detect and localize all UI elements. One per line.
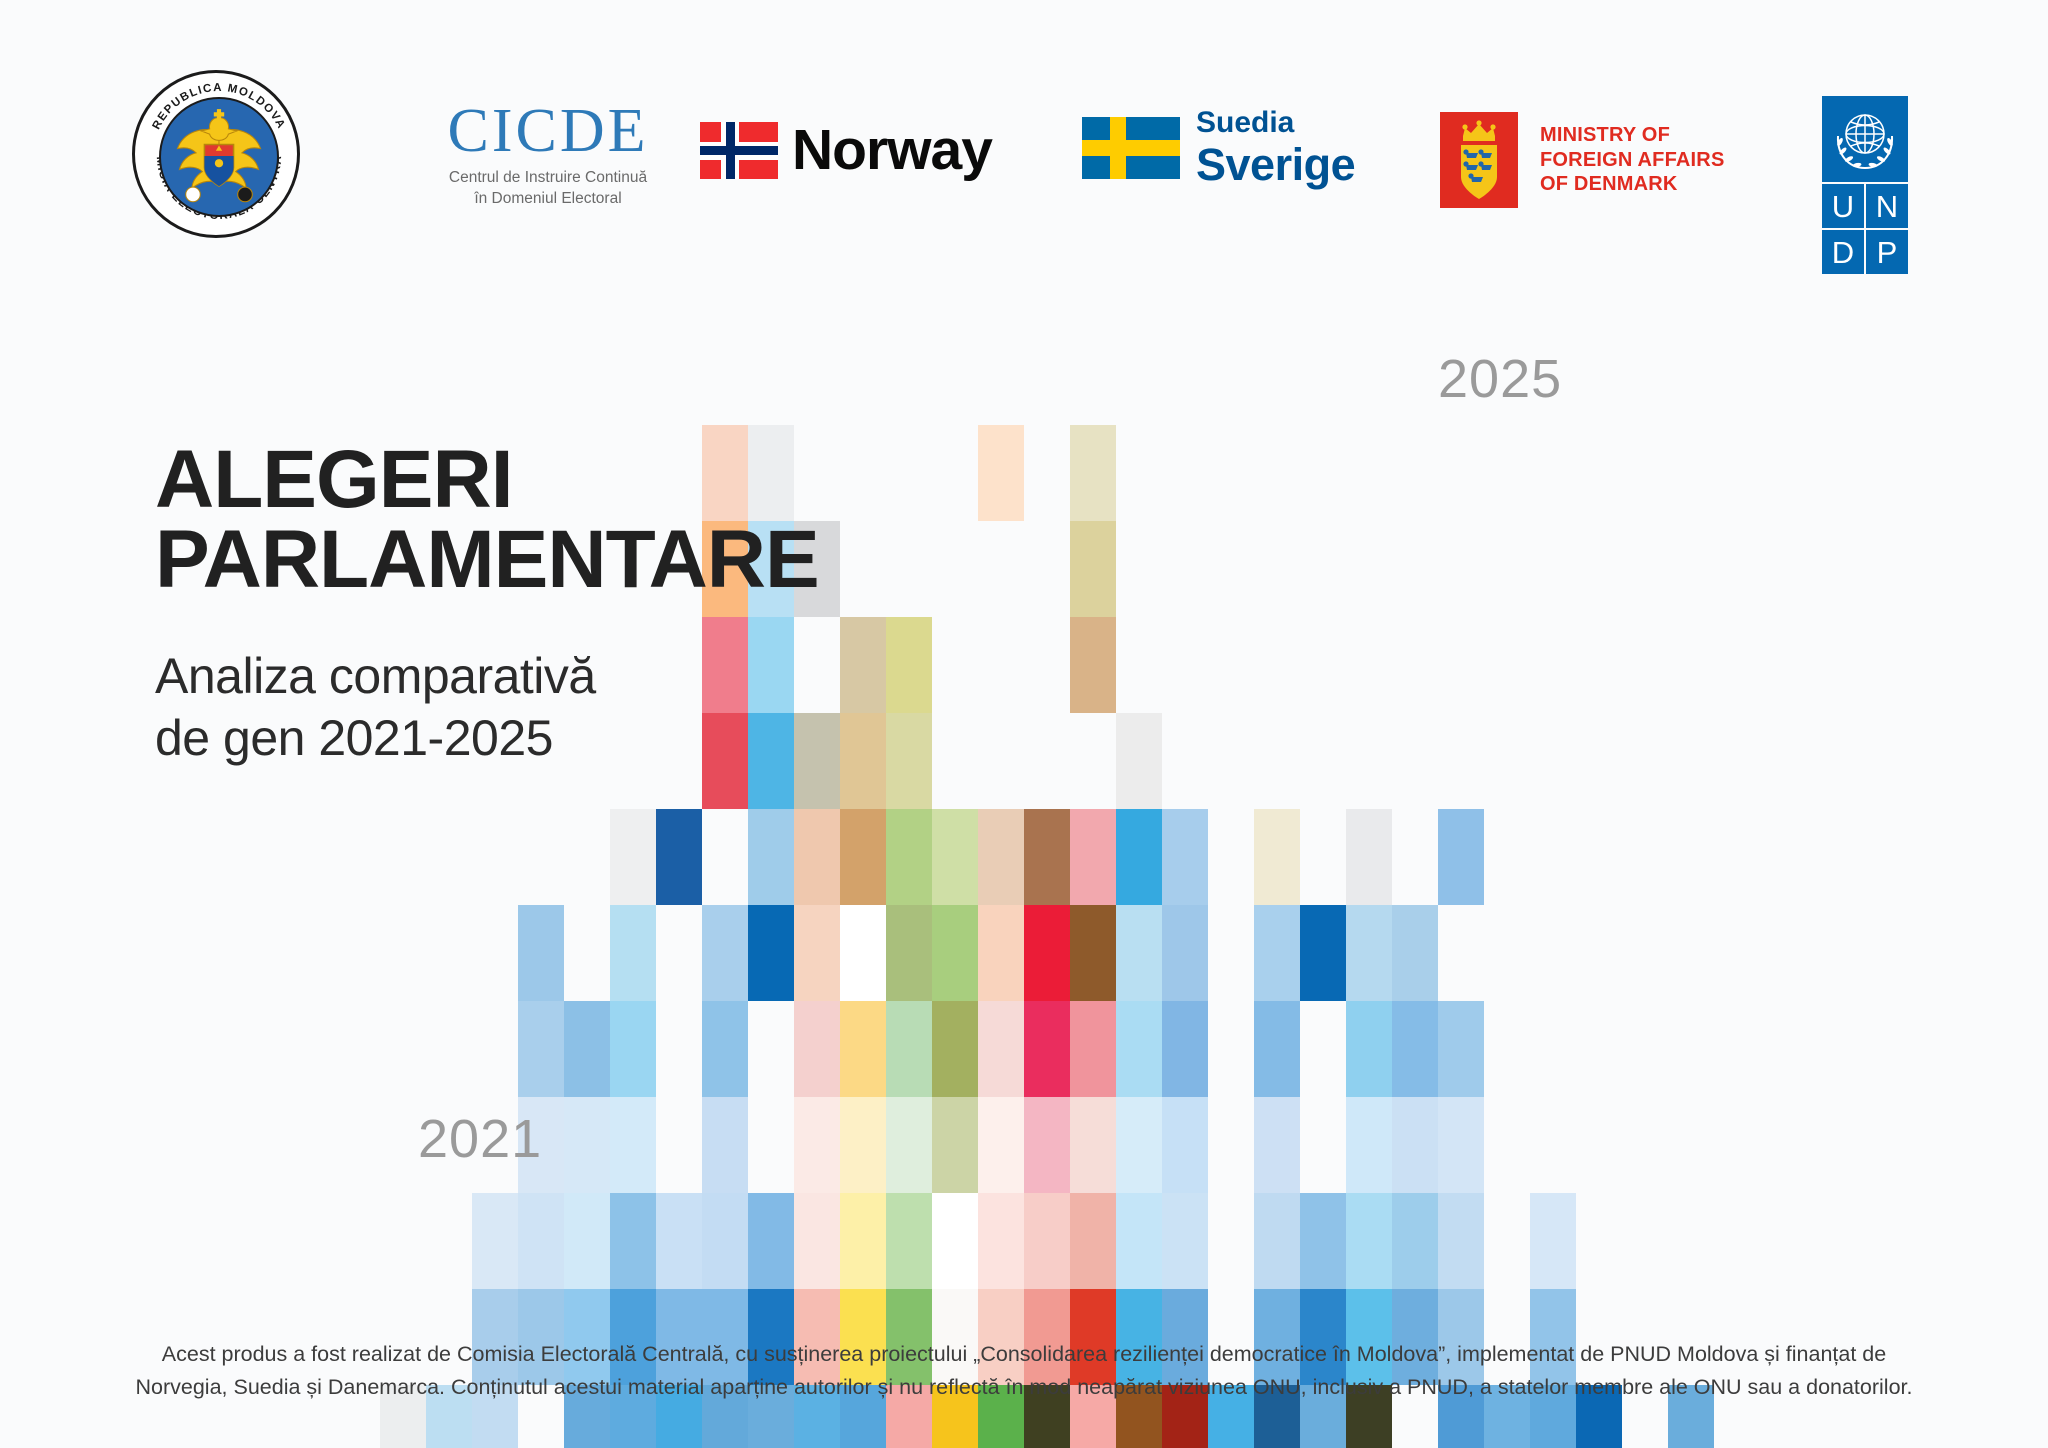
mosaic-cell: [1162, 1097, 1208, 1193]
mosaic-cell: [978, 425, 1024, 521]
mosaic-cell: [1254, 809, 1300, 905]
cicde-wordmark: CICDE: [448, 100, 649, 162]
mosaic-cell: [1346, 1193, 1392, 1289]
mosaic-cell: [1392, 1097, 1438, 1193]
mosaic-cell: [1438, 1001, 1484, 1097]
mosaic-cell: [1300, 1193, 1346, 1289]
denmark-label-line2: FOREIGN AFFAIRS: [1540, 148, 1724, 172]
mosaic-cell: [1070, 1097, 1116, 1193]
undp-logo: U N D P: [1822, 96, 1908, 274]
mosaic-cell: [794, 1193, 840, 1289]
mosaic-cell: [932, 1001, 978, 1097]
sweden-label-ro: Suedia: [1196, 108, 1355, 138]
mosaic-cell: [1162, 809, 1208, 905]
cicde-subtitle: Centrul de Instruire Continuă în Domeniu…: [449, 168, 647, 210]
page-title-line2: PARLAMENTARE: [155, 520, 915, 600]
mosaic-cell: [472, 1193, 518, 1289]
mosaic-cell: [518, 1193, 564, 1289]
mosaic-cell: [1530, 1193, 1576, 1289]
mosaic-cell: [886, 1193, 932, 1289]
mosaic-cell: [1346, 809, 1392, 905]
seal-blue-field: [159, 97, 279, 217]
mosaic-cell: [1070, 1001, 1116, 1097]
mosaic-cell: [1070, 521, 1116, 617]
page-subtitle-line2: de gen 2021-2025: [155, 707, 915, 770]
mosaic-cell: [840, 809, 886, 905]
cec-moldova-seal-logo: REPUBLICA MOLDOVA COMISIA ELECTORALĂ CEN…: [132, 70, 300, 238]
mosaic-cell: [886, 1097, 932, 1193]
denmark-arms-svg: [1451, 120, 1507, 202]
cicde-logo: CICDE Centrul de Instruire Continuă în D…: [398, 100, 698, 210]
mosaic-cell: [886, 809, 932, 905]
mosaic-cell: [1438, 809, 1484, 905]
denmark-label-line3: OF DENMARK: [1540, 172, 1724, 196]
mosaic-cell: [840, 1097, 886, 1193]
mosaic-cell: [1116, 1097, 1162, 1193]
mosaic-cell: [702, 1193, 748, 1289]
moldova-eagle-icon: [167, 105, 271, 209]
mosaic-cell: [794, 1097, 840, 1193]
mosaic-cell: [610, 1193, 656, 1289]
mosaic-cell: [932, 809, 978, 905]
mosaic-cell: [748, 1193, 794, 1289]
mosaic-cell: [978, 1193, 1024, 1289]
mosaic-cell: [1300, 905, 1346, 1001]
mosaic-cell: [1162, 905, 1208, 1001]
mosaic-cell: [656, 1193, 702, 1289]
undp-letter-n: N: [1866, 184, 1908, 228]
norway-flag-icon: [700, 122, 778, 179]
cicde-subtitle-line2: în Domeniul Electoral: [449, 189, 647, 210]
sweden-logo: Suedia Sverige: [1082, 108, 1355, 187]
mosaic-cell: [1438, 1193, 1484, 1289]
undp-letter-u: U: [1822, 184, 1864, 228]
mosaic-cell: [1346, 905, 1392, 1001]
cover-title-block: ALEGERI PARLAMENTARE Analiza comparativă…: [155, 440, 915, 770]
page-subtitle: Analiza comparativă de gen 2021-2025: [155, 645, 915, 770]
mosaic-cell: [1070, 809, 1116, 905]
mosaic-cell: [748, 905, 794, 1001]
mosaic-cell: [840, 1001, 886, 1097]
mosaic-cell: [1116, 1001, 1162, 1097]
mosaic-cell: [1070, 905, 1116, 1001]
mosaic-cell: [1024, 1097, 1070, 1193]
mosaic-cell: [840, 1193, 886, 1289]
mosaic-cell: [932, 1097, 978, 1193]
mosaic-cell: [1070, 617, 1116, 713]
mosaic-cell: [1392, 1001, 1438, 1097]
mosaic-cell: [1346, 1097, 1392, 1193]
mosaic-cell: [1392, 905, 1438, 1001]
mosaic-year-end-label: 2025: [1438, 348, 1562, 410]
un-globe-laurel-icon: [1822, 96, 1908, 182]
mosaic-cell: [610, 1097, 656, 1193]
norway-logo: Norway: [700, 122, 992, 179]
mosaic-cell: [1070, 1193, 1116, 1289]
undp-letter-grid: U N D P: [1822, 184, 1908, 274]
undp-letter-p: P: [1866, 230, 1908, 274]
mosaic-cell: [656, 809, 702, 905]
mosaic-cell: [1024, 809, 1070, 905]
mosaic-cell: [978, 1001, 1024, 1097]
mosaic-cell: [1254, 1097, 1300, 1193]
denmark-mfa-label: MINISTRY OF FOREIGN AFFAIRS OF DENMARK: [1540, 123, 1724, 196]
mosaic-cell: [840, 905, 886, 1001]
partner-logo-bar: REPUBLICA MOLDOVA COMISIA ELECTORALĂ CEN…: [0, 0, 2048, 260]
mosaic-cell: [1024, 1001, 1070, 1097]
mosaic-cell: [1254, 1001, 1300, 1097]
page-title-line1: ALEGERI: [155, 440, 915, 520]
denmark-label-line1: MINISTRY OF: [1540, 123, 1724, 147]
mosaic-cell: [610, 809, 656, 905]
mosaic-cell: [1116, 809, 1162, 905]
mosaic-cell: [610, 1001, 656, 1097]
sweden-flag-icon: [1082, 117, 1180, 179]
mosaic-cell: [518, 905, 564, 1001]
mosaic-cell: [886, 905, 932, 1001]
undp-letter-d: D: [1822, 230, 1864, 274]
mosaic-cell: [1438, 1097, 1484, 1193]
norway-label: Norway: [792, 122, 992, 179]
mosaic-cell: [1392, 1193, 1438, 1289]
mosaic-cell: [1070, 425, 1116, 521]
denmark-mfa-logo: MINISTRY OF FOREIGN AFFAIRS OF DENMARK: [1440, 112, 1724, 208]
mosaic-cell: [794, 809, 840, 905]
mosaic-cell: [932, 1193, 978, 1289]
seal-outer-ring: REPUBLICA MOLDOVA COMISIA ELECTORALĂ CEN…: [132, 70, 300, 238]
mosaic-cell: [1254, 905, 1300, 1001]
mosaic-cell: [794, 905, 840, 1001]
cover-page: 2021 2025 REPUBLICA MOLDOVA COMISIA ELEC…: [0, 0, 2048, 1448]
mosaic-cell: [1346, 1001, 1392, 1097]
mosaic-cell: [610, 905, 656, 1001]
mosaic-cell: [748, 809, 794, 905]
mosaic-cell: [1116, 713, 1162, 809]
mosaic-cell: [978, 1097, 1024, 1193]
mosaic-cell: [564, 1097, 610, 1193]
mosaic-cell: [564, 1001, 610, 1097]
mosaic-cell: [1116, 905, 1162, 1001]
mosaic-cell: [702, 1001, 748, 1097]
mosaic-cell: [886, 1001, 932, 1097]
mosaic-cell: [564, 1193, 610, 1289]
danish-crown-shield-icon: [1440, 112, 1518, 208]
mosaic-cell: [1024, 905, 1070, 1001]
mosaic-cell: [702, 905, 748, 1001]
cicde-subtitle-line1: Centrul de Instruire Continuă: [449, 168, 647, 189]
page-title: ALEGERI PARLAMENTARE: [155, 440, 915, 601]
mosaic-cell: [978, 905, 1024, 1001]
mosaic-cell: [1024, 1193, 1070, 1289]
mosaic-cell: [1116, 1193, 1162, 1289]
mosaic-cell: [978, 809, 1024, 905]
mosaic-cell: [702, 1097, 748, 1193]
mosaic-cell: [1254, 1193, 1300, 1289]
mosaic-cell: [1162, 1001, 1208, 1097]
footer-disclaimer: Acest produs a fost realizat de Comisia …: [0, 1338, 2048, 1405]
mosaic-cell: [1162, 1193, 1208, 1289]
sweden-label-sv: Sverige: [1196, 142, 1355, 187]
page-subtitle-line1: Analiza comparativă: [155, 645, 915, 708]
mosaic-year-start-label: 2021: [418, 1108, 542, 1170]
mosaic-cell: [794, 1001, 840, 1097]
un-emblem-svg: [1822, 96, 1908, 182]
mosaic-cell: [932, 905, 978, 1001]
mosaic-cell: [518, 1001, 564, 1097]
